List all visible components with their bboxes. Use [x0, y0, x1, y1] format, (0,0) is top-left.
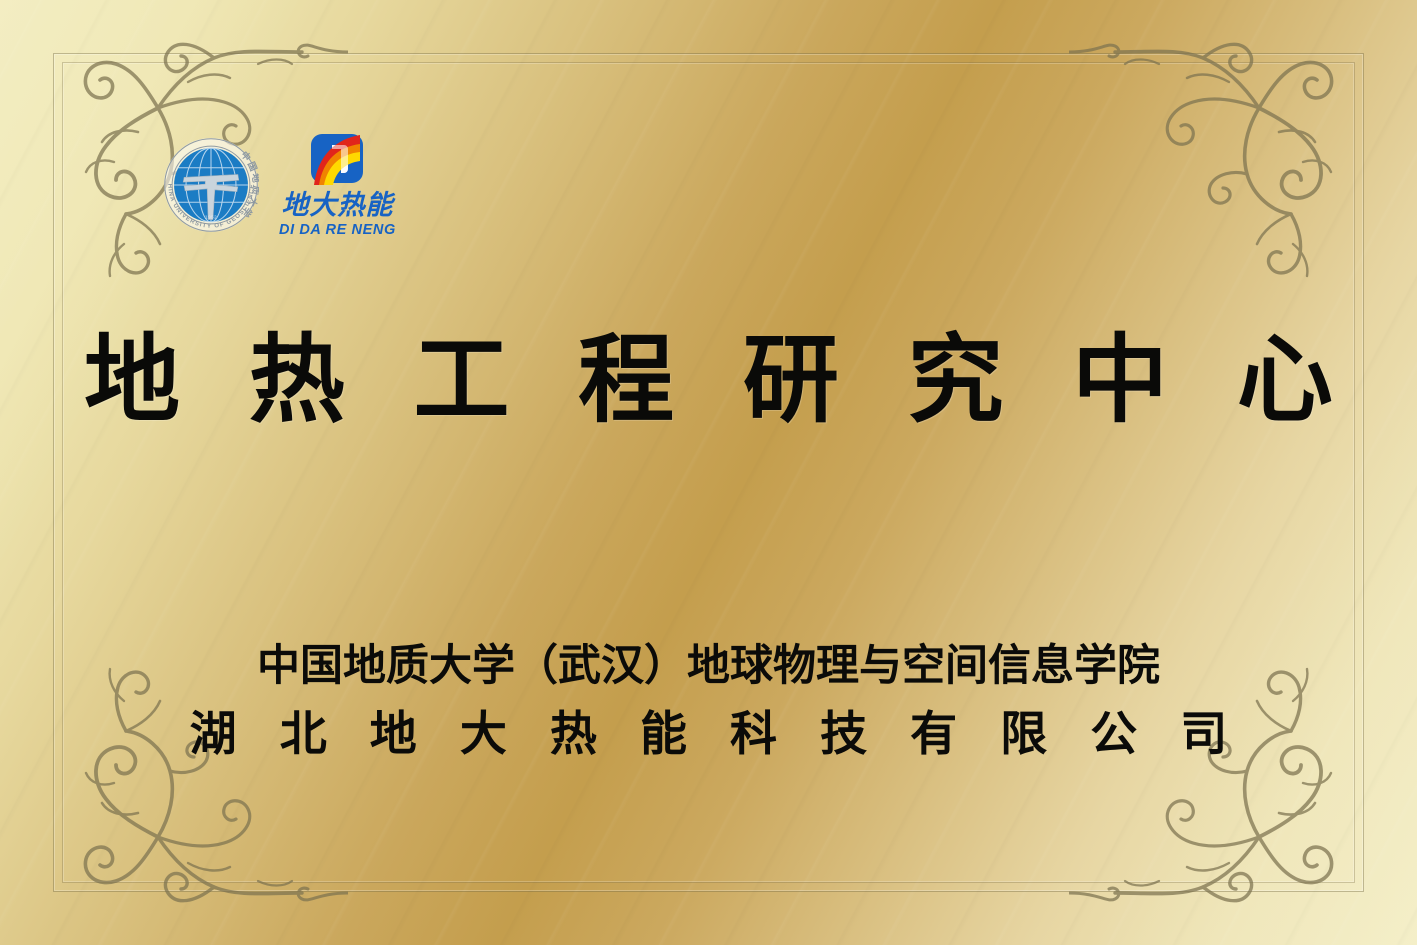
filigree-corner-bottom-left-icon: [18, 663, 348, 933]
logo-row: 1952 中国地质大学 CHINA UNIVERSITY OF GEOSCIEN…: [163, 133, 396, 238]
university-logo: 1952 中国地质大学 CHINA UNIVERSITY OF GEOSCIEN…: [163, 137, 259, 233]
didareneng-rainbow-mark-icon: [308, 133, 366, 189]
page-title: 地 热 工 程 研 究 中 心: [0, 327, 1417, 435]
company-name-pinyin: DI DA RE NENG: [279, 223, 396, 238]
subtitle-company: 湖 北 地 大 热 能 科 技 有 限 公 司: [0, 706, 1417, 762]
svg-text:1952: 1952: [205, 215, 217, 221]
company-name-cn: 地大热能: [281, 192, 393, 219]
company-logo: 地大热能 DI DA RE NENG: [279, 133, 396, 238]
filigree-corner-bottom-right-icon: [1069, 663, 1399, 933]
award-plaque: 1952 中国地质大学 CHINA UNIVERSITY OF GEOSCIEN…: [0, 0, 1417, 945]
filigree-corner-top-right-icon: [1069, 12, 1399, 282]
subtitle-institution: 中国地质大学（武汉）地球物理与空间信息学院: [0, 641, 1417, 693]
